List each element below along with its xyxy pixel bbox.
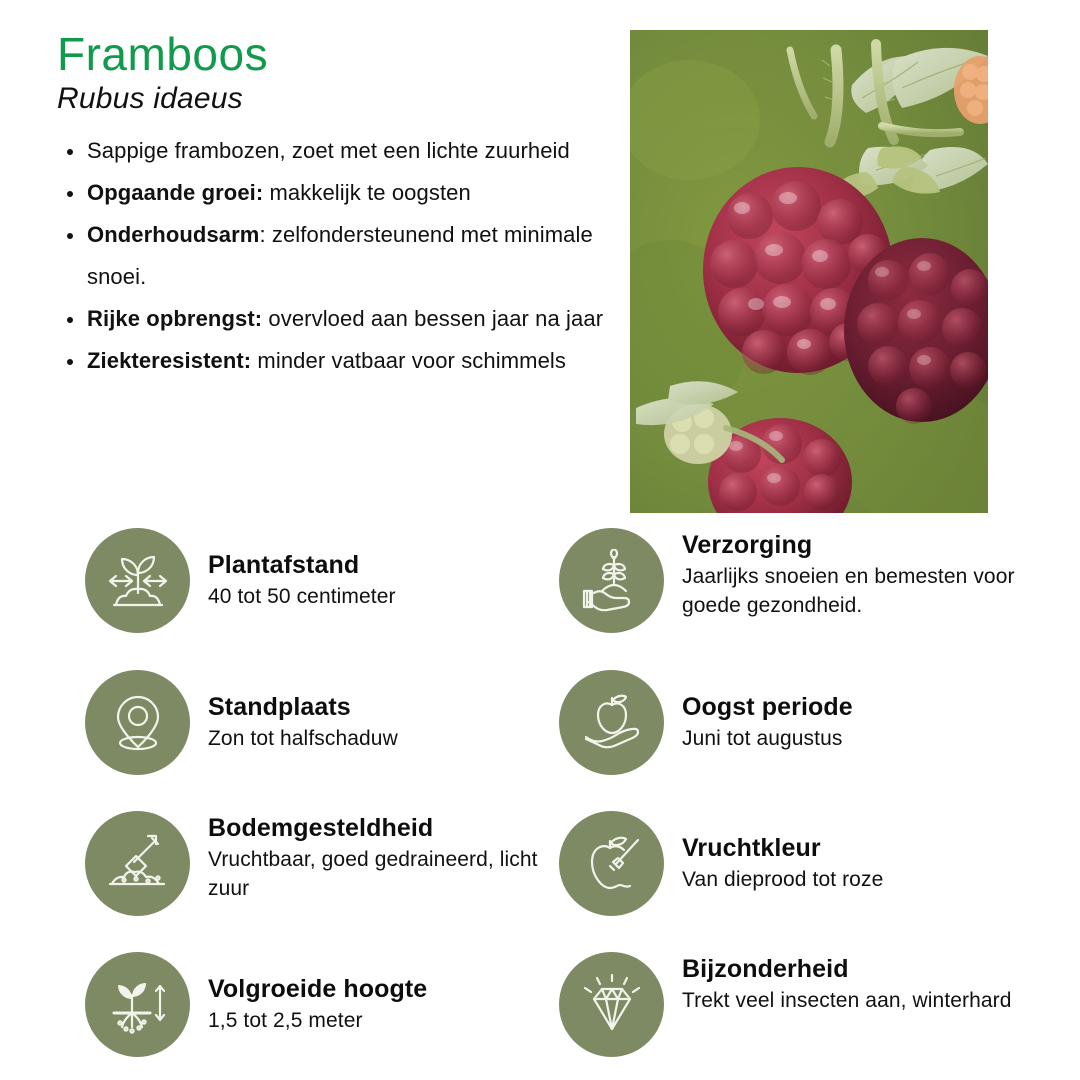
latin-name: Rubus idaeus <box>57 82 617 117</box>
plant-spacing-icon <box>85 528 190 633</box>
info-title: Standplaats <box>208 692 398 723</box>
info-text: Vruchtkleur Van dieprood tot roze <box>682 811 883 894</box>
feature-text: overvloed aan bessen jaar na jaar <box>262 306 603 331</box>
feature-text: makkelijk te oogsten <box>263 180 471 205</box>
info-item-verzorging: Verzorging Jaarlijks snoeien en bemesten… <box>559 528 1059 633</box>
info-text: Volgroeide hoogte 1,5 tot 2,5 meter <box>208 952 427 1035</box>
list-item: Ziekteresistent: minder vatbaar voor sch… <box>57 340 617 382</box>
diamond-icon <box>559 952 664 1057</box>
feature-bold: Opgaande groei: <box>87 180 263 205</box>
list-item: Rijke opbrengst: overvloed aan bessen ja… <box>57 298 617 340</box>
info-desc: Zon tot halfschaduw <box>208 724 398 754</box>
raspberry-photo <box>630 30 988 513</box>
feature-bold: Ziekteresistent: <box>87 348 251 373</box>
info-title: Bodemgesteldheid <box>208 813 555 844</box>
hand-plant-icon <box>559 528 664 633</box>
info-title: Verzorging <box>682 530 1059 561</box>
info-title: Oogst periode <box>682 692 853 723</box>
info-item-oogst-periode: Oogst periode Juni tot augustus <box>559 670 853 775</box>
info-item-vruchtkleur: Vruchtkleur Van dieprood tot roze <box>559 811 883 916</box>
info-item-standplaats: Standplaats Zon tot halfschaduw <box>85 670 398 775</box>
info-text: Oogst periode Juni tot augustus <box>682 670 853 753</box>
info-title: Vruchtkleur <box>682 833 883 864</box>
info-item-bijzonderheid: Bijzonderheid Trekt veel insecten aan, w… <box>559 952 1012 1057</box>
info-item-volgroeide-hoogte: Volgroeide hoogte 1,5 tot 2,5 meter <box>85 952 427 1057</box>
feature-bold: Rijke opbrengst: <box>87 306 262 331</box>
info-desc: Vruchtbaar, goed gedraineerd, licht zuur <box>208 845 555 905</box>
list-item: Onderhoudsarm: zelfondersteunend met min… <box>57 214 617 298</box>
info-text: Verzorging Jaarlijks snoeien en bemesten… <box>682 528 1059 621</box>
info-text: Bijzonderheid Trekt veel insecten aan, w… <box>682 952 1012 1015</box>
feature-list: Sappige frambozen, zoet met een lichte z… <box>57 130 617 382</box>
info-text: Plantafstand 40 tot 50 centimeter <box>208 528 396 611</box>
info-item-plantafstand: Plantafstand 40 tot 50 centimeter <box>85 528 396 633</box>
list-item: Opgaande groei: makkelijk te oogsten <box>57 172 617 214</box>
info-title: Volgroeide hoogte <box>208 974 427 1005</box>
info-desc: Van dieprood tot roze <box>682 865 883 895</box>
page-title: Framboos <box>57 30 617 80</box>
shovel-soil-icon <box>85 811 190 916</box>
feature-text: minder vatbaar voor schimmels <box>251 348 566 373</box>
apple-brush-icon <box>559 811 664 916</box>
info-desc: Jaarlijks snoeien en bemesten voor goede… <box>682 562 1059 622</box>
list-item: Sappige frambozen, zoet met een lichte z… <box>57 130 617 172</box>
location-pin-icon <box>85 670 190 775</box>
info-text: Standplaats Zon tot halfschaduw <box>208 670 398 753</box>
feature-bold: Onderhoudsarm <box>87 222 259 247</box>
hand-apple-icon <box>559 670 664 775</box>
info-desc: Juni tot augustus <box>682 724 853 754</box>
info-desc: 1,5 tot 2,5 meter <box>208 1006 427 1036</box>
info-title: Bijzonderheid <box>682 954 1012 985</box>
info-title: Plantafstand <box>208 550 396 581</box>
info-text: Bodemgesteldheid Vruchtbaar, goed gedrai… <box>208 811 555 904</box>
info-item-bodemgesteldheid: Bodemgesteldheid Vruchtbaar, goed gedrai… <box>85 811 555 916</box>
info-desc: Trekt veel insecten aan, winterhard <box>682 986 1012 1016</box>
feature-text: Sappige frambozen, zoet met een lichte z… <box>87 138 570 163</box>
info-desc: 40 tot 50 centimeter <box>208 582 396 612</box>
plant-height-icon <box>85 952 190 1057</box>
plant-header: Framboos Rubus idaeus Sappige frambozen,… <box>57 30 617 382</box>
